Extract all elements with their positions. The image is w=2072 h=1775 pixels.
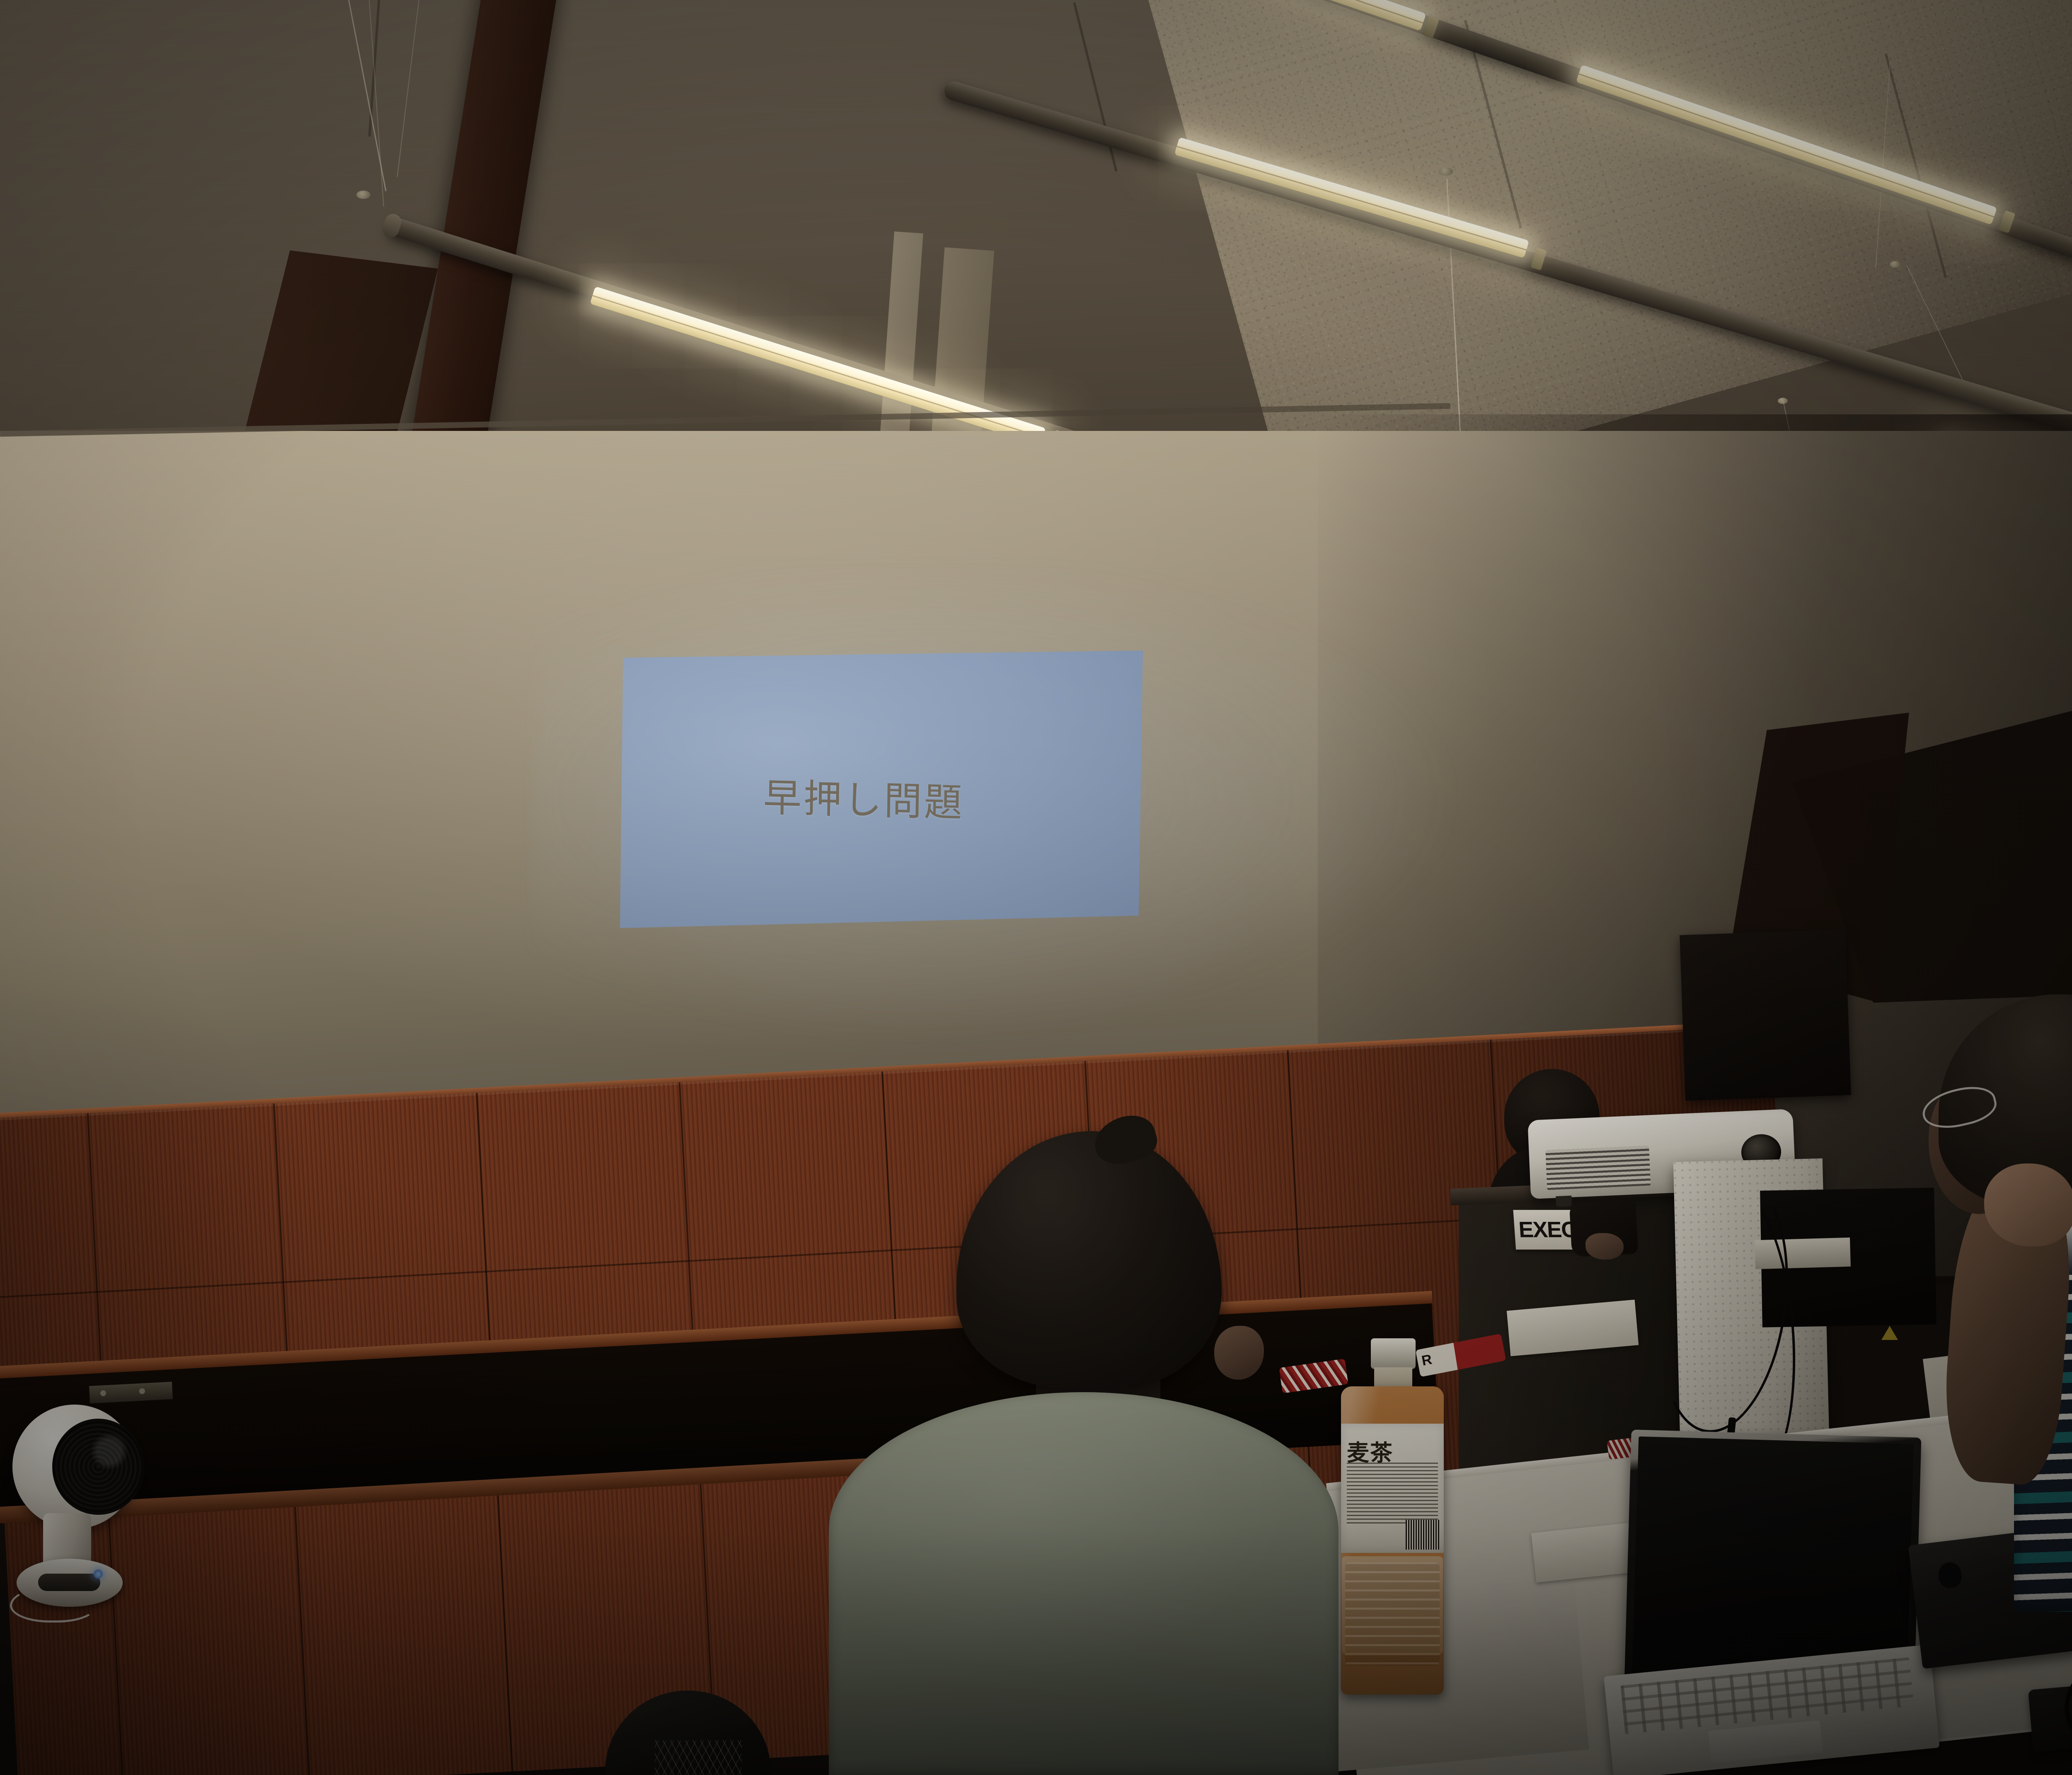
- fan-grille: [52, 1419, 144, 1515]
- air-circulator-fan[interactable]: [12, 1405, 149, 1612]
- fan-head: [12, 1405, 137, 1529]
- projector-vent: [1545, 1146, 1651, 1190]
- ceiling-anchor: [1890, 261, 1900, 268]
- attendee-hand: [1984, 1163, 2072, 1246]
- fan-power-led-icon: [94, 1569, 103, 1579]
- wall-speaker: [1680, 929, 1851, 1101]
- barcode-icon: [1406, 1520, 1440, 1550]
- chair-mesh-back: [655, 1740, 742, 1775]
- standing-attendee-right: [1877, 990, 2072, 1612]
- attendee-hair: [956, 1131, 1222, 1388]
- ceiling-anchor: [356, 191, 370, 199]
- projected-slide: 早押し問題: [620, 651, 1143, 928]
- bracket-screw: [139, 1388, 145, 1394]
- slide-title: 早押し問題: [763, 766, 965, 827]
- room-photo-scene: 早押し問題: [0, 0, 2072, 1775]
- operator-hand: [1585, 1233, 1624, 1260]
- bottle-ribs: [1345, 1562, 1440, 1666]
- macbook-trackpad[interactable]: [1708, 1720, 1823, 1763]
- projector-foot: [1556, 1196, 1572, 1207]
- ceiling-anchor: [1439, 167, 1453, 176]
- attendee-shirt: [829, 1392, 1339, 1775]
- attendee-ear: [1214, 1326, 1264, 1380]
- bottle-cap[interactable]: [1371, 1338, 1416, 1369]
- bottle-label-finetext: [1347, 1463, 1438, 1525]
- bracket-screw: [100, 1390, 107, 1396]
- seated-attendee-foreground: [804, 1131, 1359, 1775]
